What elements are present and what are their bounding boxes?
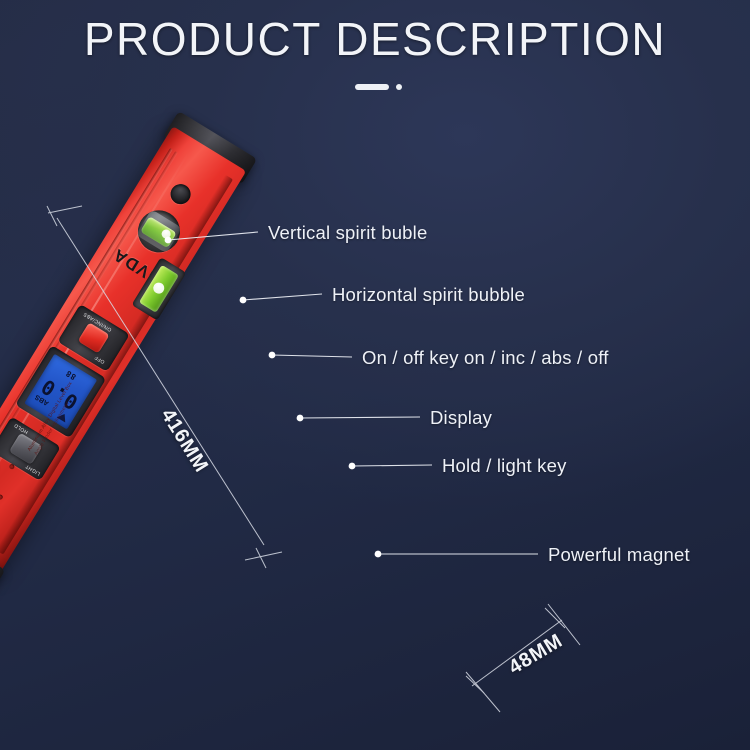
hold-key-label-secondary: LIGHT	[25, 463, 42, 477]
title-divider	[0, 80, 750, 94]
leader-dot	[297, 415, 304, 422]
dimension-width-label: 48MM	[505, 630, 567, 680]
page-title: PRODUCT DESCRIPTION	[0, 12, 750, 66]
callout-vertical-bubble: Vertical spirit buble	[268, 222, 427, 244]
callout-display: Display	[430, 407, 492, 429]
leader-dot	[375, 551, 382, 558]
callout-powerful-magnet: Powerful magnet	[548, 544, 690, 566]
leader-dot	[269, 352, 276, 359]
digital-level-product: GVDA ON/INC/ABS OFF 88 0.0 ABS HOLD	[0, 113, 255, 584]
leader-dot	[349, 463, 356, 470]
level-body: GVDA ON/INC/ABS OFF 88 0.0 ABS HOLD	[0, 126, 246, 572]
callout-hold-light-key: Hold / light key	[442, 455, 567, 477]
callout-horizontal-bubble: Horizontal spirit bubble	[332, 284, 525, 306]
callout-onoff-key: On / off key on / inc / abs / off	[362, 347, 609, 369]
dimension-length-label: 416MM	[155, 405, 212, 477]
vial-glass	[136, 209, 182, 253]
screw-dimple	[0, 494, 4, 501]
divider-dot	[396, 84, 402, 90]
product-description-banner: PRODUCT DESCRIPTION GVDA ON/INC	[0, 0, 750, 750]
leader-dot	[240, 297, 247, 304]
hanging-hole	[167, 180, 195, 208]
body-shadow	[0, 175, 233, 555]
divider-bar	[355, 84, 389, 90]
